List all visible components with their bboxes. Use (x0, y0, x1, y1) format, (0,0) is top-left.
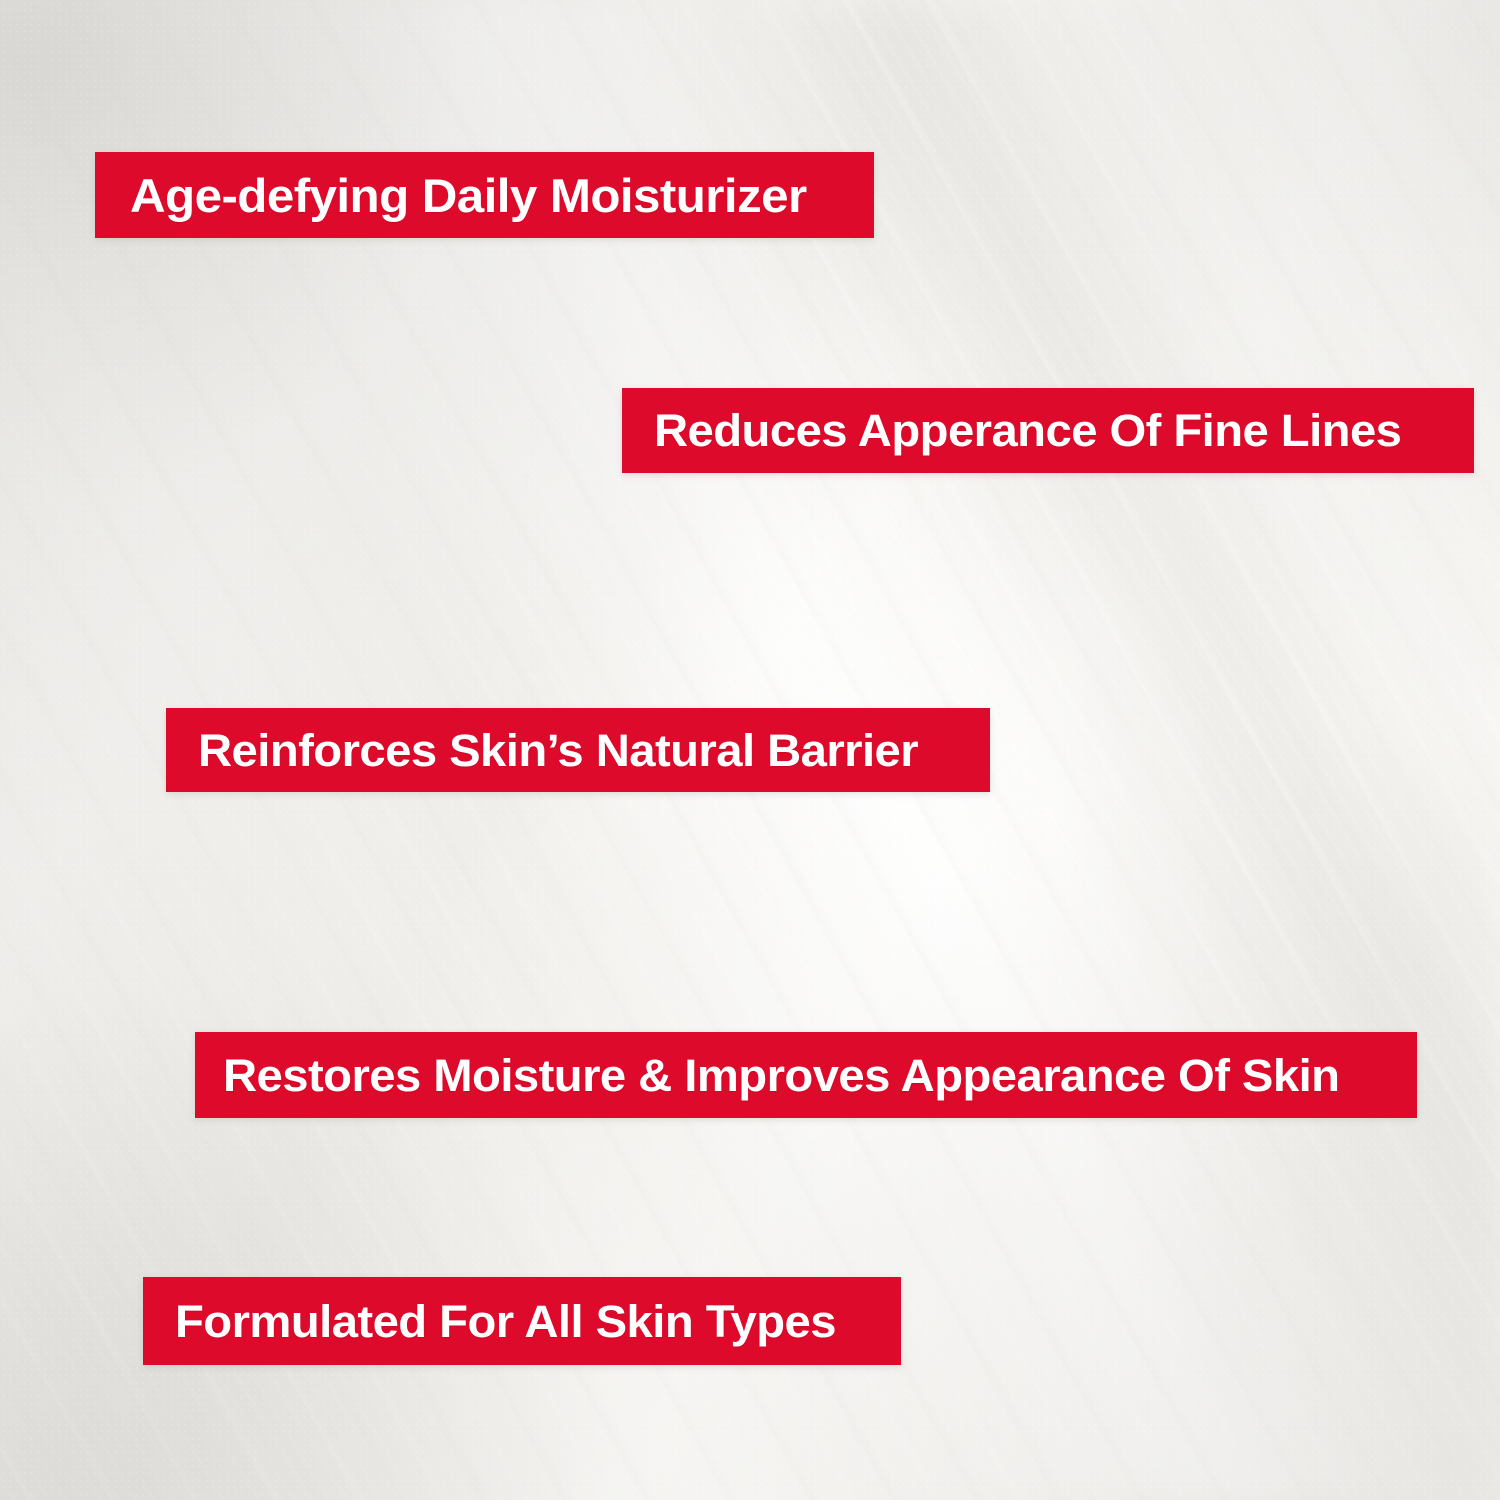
benefit-banner-label: Reinforces Skin’s Natural Barrier (198, 728, 918, 773)
benefit-banner-label: Formulated For All Skin Types (175, 1299, 836, 1344)
benefit-banner-formulated-for-all-skin-types: Formulated For All Skin Types (143, 1277, 901, 1365)
benefit-banner-reduces-apperance-of-fine-lines: Reduces Apperance Of Fine Lines (622, 388, 1474, 473)
product-benefits-graphic: Age-defying Daily Moisturizer Reduces Ap… (0, 0, 1500, 1500)
benefit-banner-reinforces-skins-natural-barrier: Reinforces Skin’s Natural Barrier (166, 708, 990, 792)
benefit-banner-label: Restores Moisture & Improves Appearance … (223, 1053, 1339, 1098)
benefit-banner-label: Reduces Apperance Of Fine Lines (654, 408, 1401, 453)
benefit-banner-label: Age-defying Daily Moisturizer (130, 172, 807, 219)
benefit-banner-restores-moisture-improves-appearance-of-skin: Restores Moisture & Improves Appearance … (195, 1032, 1417, 1118)
benefit-banner-age-defying-daily-moisturizer: Age-defying Daily Moisturizer (95, 152, 874, 238)
